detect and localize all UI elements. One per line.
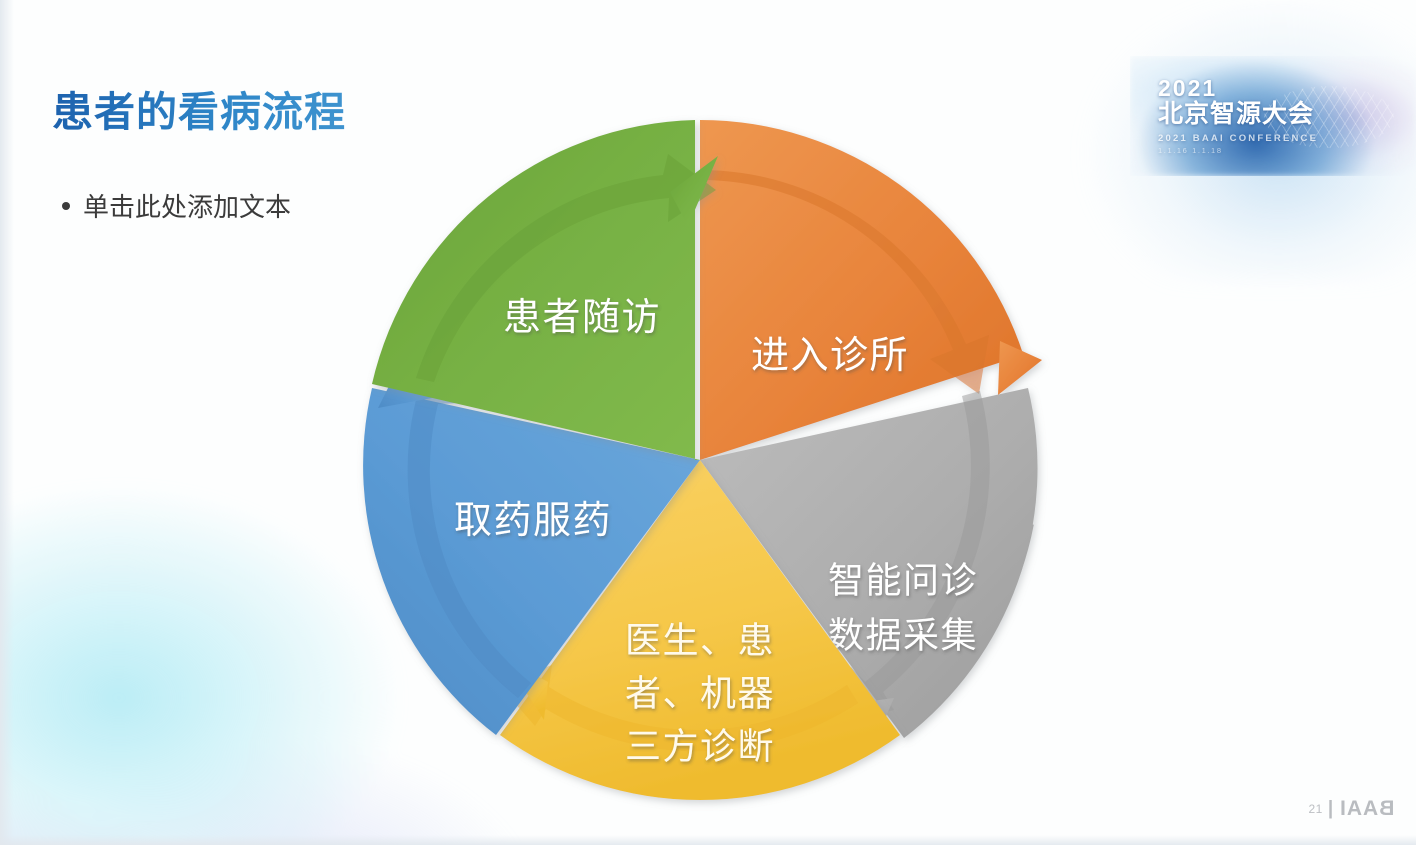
process-cycle-diagram: 进入诊所 智能问诊 数据采集 医生、患 者、机器 <box>338 98 1062 822</box>
slide-edge-bottom <box>0 835 1416 845</box>
page-number: 21 <box>1308 802 1322 816</box>
bullet-dot-icon <box>62 202 70 210</box>
logo-dates: 1.1.16 1.1.18 <box>1158 146 1318 155</box>
segment-label-tripartite-line2: 者、机器 <box>625 673 775 714</box>
segment-label-get-take-medicine: 取药服药 <box>454 500 612 542</box>
segment-label-enter-clinic: 进入诊所 <box>751 335 909 377</box>
segment-label-tripartite-line3: 三方诊断 <box>625 726 775 767</box>
segment-label-patient-followup: 患者随访 <box>503 297 661 339</box>
footer-brand: 21 | BAAI <box>1308 797 1394 821</box>
conference-logo: 2021 北京智源大会 2021 BAAI CONFERENCE 1.1.16 … <box>1130 56 1416 176</box>
slide-canvas: 患者的看病流程 单击此处添加文本 <box>0 0 1416 845</box>
bullet-text: 单击此处添加文本 <box>83 187 291 224</box>
footer-separator: | <box>1328 798 1334 820</box>
segment-label-smart-consult-line2: 数据采集 <box>828 615 978 656</box>
page-title: 患者的看病流程 <box>52 78 346 138</box>
slide-edge-left <box>0 0 14 845</box>
segment-label-tripartite-line1: 医生、患 <box>625 620 775 661</box>
logo-text-block: 2021 北京智源大会 2021 BAAI CONFERENCE 1.1.16 … <box>1158 76 1318 155</box>
logo-year: 2021 <box>1158 76 1318 100</box>
logo-name-cn: 北京智源大会 <box>1158 100 1318 129</box>
logo-name-en: 2021 BAAI CONFERENCE <box>1158 133 1318 144</box>
bullet-item: 单击此处添加文本 <box>62 187 291 224</box>
baai-logo-mark: BAAI <box>1339 797 1394 821</box>
segment-label-smart-consult-line1: 智能问诊 <box>828 560 978 601</box>
